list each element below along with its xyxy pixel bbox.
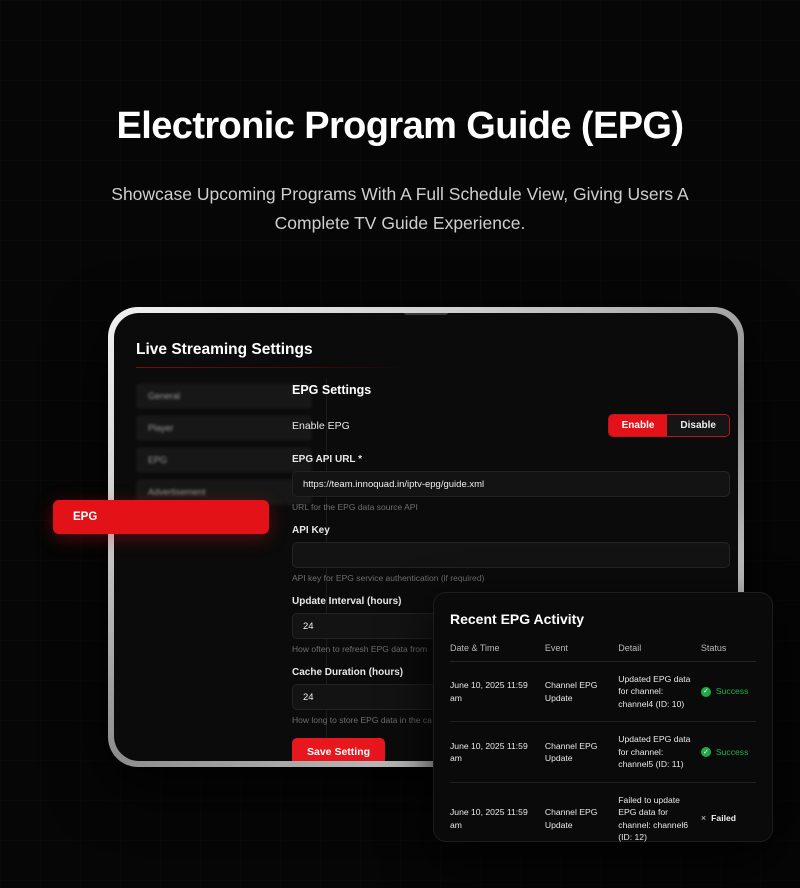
- status-label: Success: [716, 746, 748, 758]
- page-root: Electronic Program Guide (EPG) Showcase …: [0, 0, 800, 888]
- title-divider: [136, 367, 408, 368]
- cell-detail: Updated EPG data for channel: channel5 (…: [618, 722, 701, 782]
- cell-status: ✓ Success: [701, 722, 756, 782]
- save-setting-button[interactable]: Save Setting: [292, 738, 385, 761]
- camera-notch-icon: [403, 313, 449, 315]
- table-row: June 10, 2025 11:59 am Channel EPG Updat…: [450, 662, 756, 722]
- table-row: June 10, 2025 11:59 am Channel EPG Updat…: [450, 782, 756, 854]
- sidebar-item-epg[interactable]: EPG: [136, 447, 312, 473]
- column-header-status: Status: [701, 643, 756, 662]
- page-title: Electronic Program Guide (EPG): [0, 105, 800, 148]
- enable-epg-toggle[interactable]: Enable Disable: [608, 414, 730, 437]
- required-asterisk-icon: *: [358, 454, 362, 465]
- cell-detail: Updated EPG data for channel: channel4 (…: [618, 662, 701, 722]
- cell-event: Channel EPG Update: [545, 722, 618, 782]
- epg-api-url-label: EPG API URL *: [292, 454, 730, 465]
- api-key-hint: API key for EPG service authentication (…: [292, 573, 730, 583]
- api-key-input[interactable]: [292, 542, 730, 568]
- toggle-disable-button[interactable]: Disable: [667, 415, 729, 436]
- table-row: June 10, 2025 11:59 am Channel EPG Updat…: [450, 722, 756, 782]
- api-key-label: API Key: [292, 525, 730, 536]
- enable-epg-label: Enable EPG: [292, 420, 350, 432]
- column-header-detail: Detail: [618, 643, 701, 662]
- cell-event: Channel EPG Update: [545, 662, 618, 722]
- cell-status: ✓ Success: [701, 662, 756, 722]
- page-subtitle: Showcase Upcoming Programs With A Full S…: [100, 180, 700, 238]
- cell-datetime: June 10, 2025 11:59 am: [450, 722, 545, 782]
- settings-panel-title: Live Streaming Settings: [136, 341, 313, 359]
- sidebar-item-general[interactable]: General: [136, 383, 312, 409]
- column-header-event: Event: [545, 643, 618, 662]
- status-badge: × Failed: [701, 812, 750, 825]
- table-header-row: Date & Time Event Detail Status: [450, 643, 756, 662]
- close-x-icon: ×: [701, 812, 706, 825]
- status-badge: ✓ Success: [701, 685, 750, 697]
- column-header-datetime: Date & Time: [450, 643, 545, 662]
- epg-api-url-hint: URL for the EPG data source API: [292, 502, 730, 512]
- cell-status: × Failed: [701, 782, 756, 854]
- api-key-group: API Key API key for EPG service authenti…: [292, 525, 730, 583]
- cell-datetime: June 10, 2025 11:59 am: [450, 782, 545, 854]
- recent-activity-title: Recent EPG Activity: [450, 611, 756, 627]
- epg-api-url-label-text: EPG API URL: [292, 454, 355, 465]
- sidebar-item-player[interactable]: Player: [136, 415, 312, 441]
- epg-api-url-group: EPG API URL * https://team.innoquad.in/i…: [292, 454, 730, 512]
- status-label: Success: [716, 685, 748, 697]
- settings-sidebar[interactable]: General Player EPG Advertisement: [136, 383, 312, 511]
- status-badge: ✓ Success: [701, 746, 750, 758]
- cell-detail: Failed to update EPG data for channel: c…: [618, 782, 701, 854]
- status-label: Failed: [711, 812, 736, 824]
- activity-table: Date & Time Event Detail Status June 10,…: [450, 643, 756, 855]
- epg-api-url-input[interactable]: https://team.innoquad.in/iptv-epg/guide.…: [292, 471, 730, 497]
- sidebar-item-epg-highlight[interactable]: EPG: [53, 500, 269, 534]
- cell-event: Channel EPG Update: [545, 782, 618, 854]
- epg-settings-heading: EPG Settings: [292, 383, 730, 397]
- enable-epg-row: Enable EPG Enable Disable: [292, 414, 730, 437]
- recent-epg-activity-card: Recent EPG Activity Date & Time Event De…: [433, 592, 773, 842]
- toggle-enable-button[interactable]: Enable: [609, 415, 668, 436]
- cell-datetime: June 10, 2025 11:59 am: [450, 662, 545, 722]
- check-circle-icon: ✓: [701, 747, 711, 757]
- check-circle-icon: ✓: [701, 687, 711, 697]
